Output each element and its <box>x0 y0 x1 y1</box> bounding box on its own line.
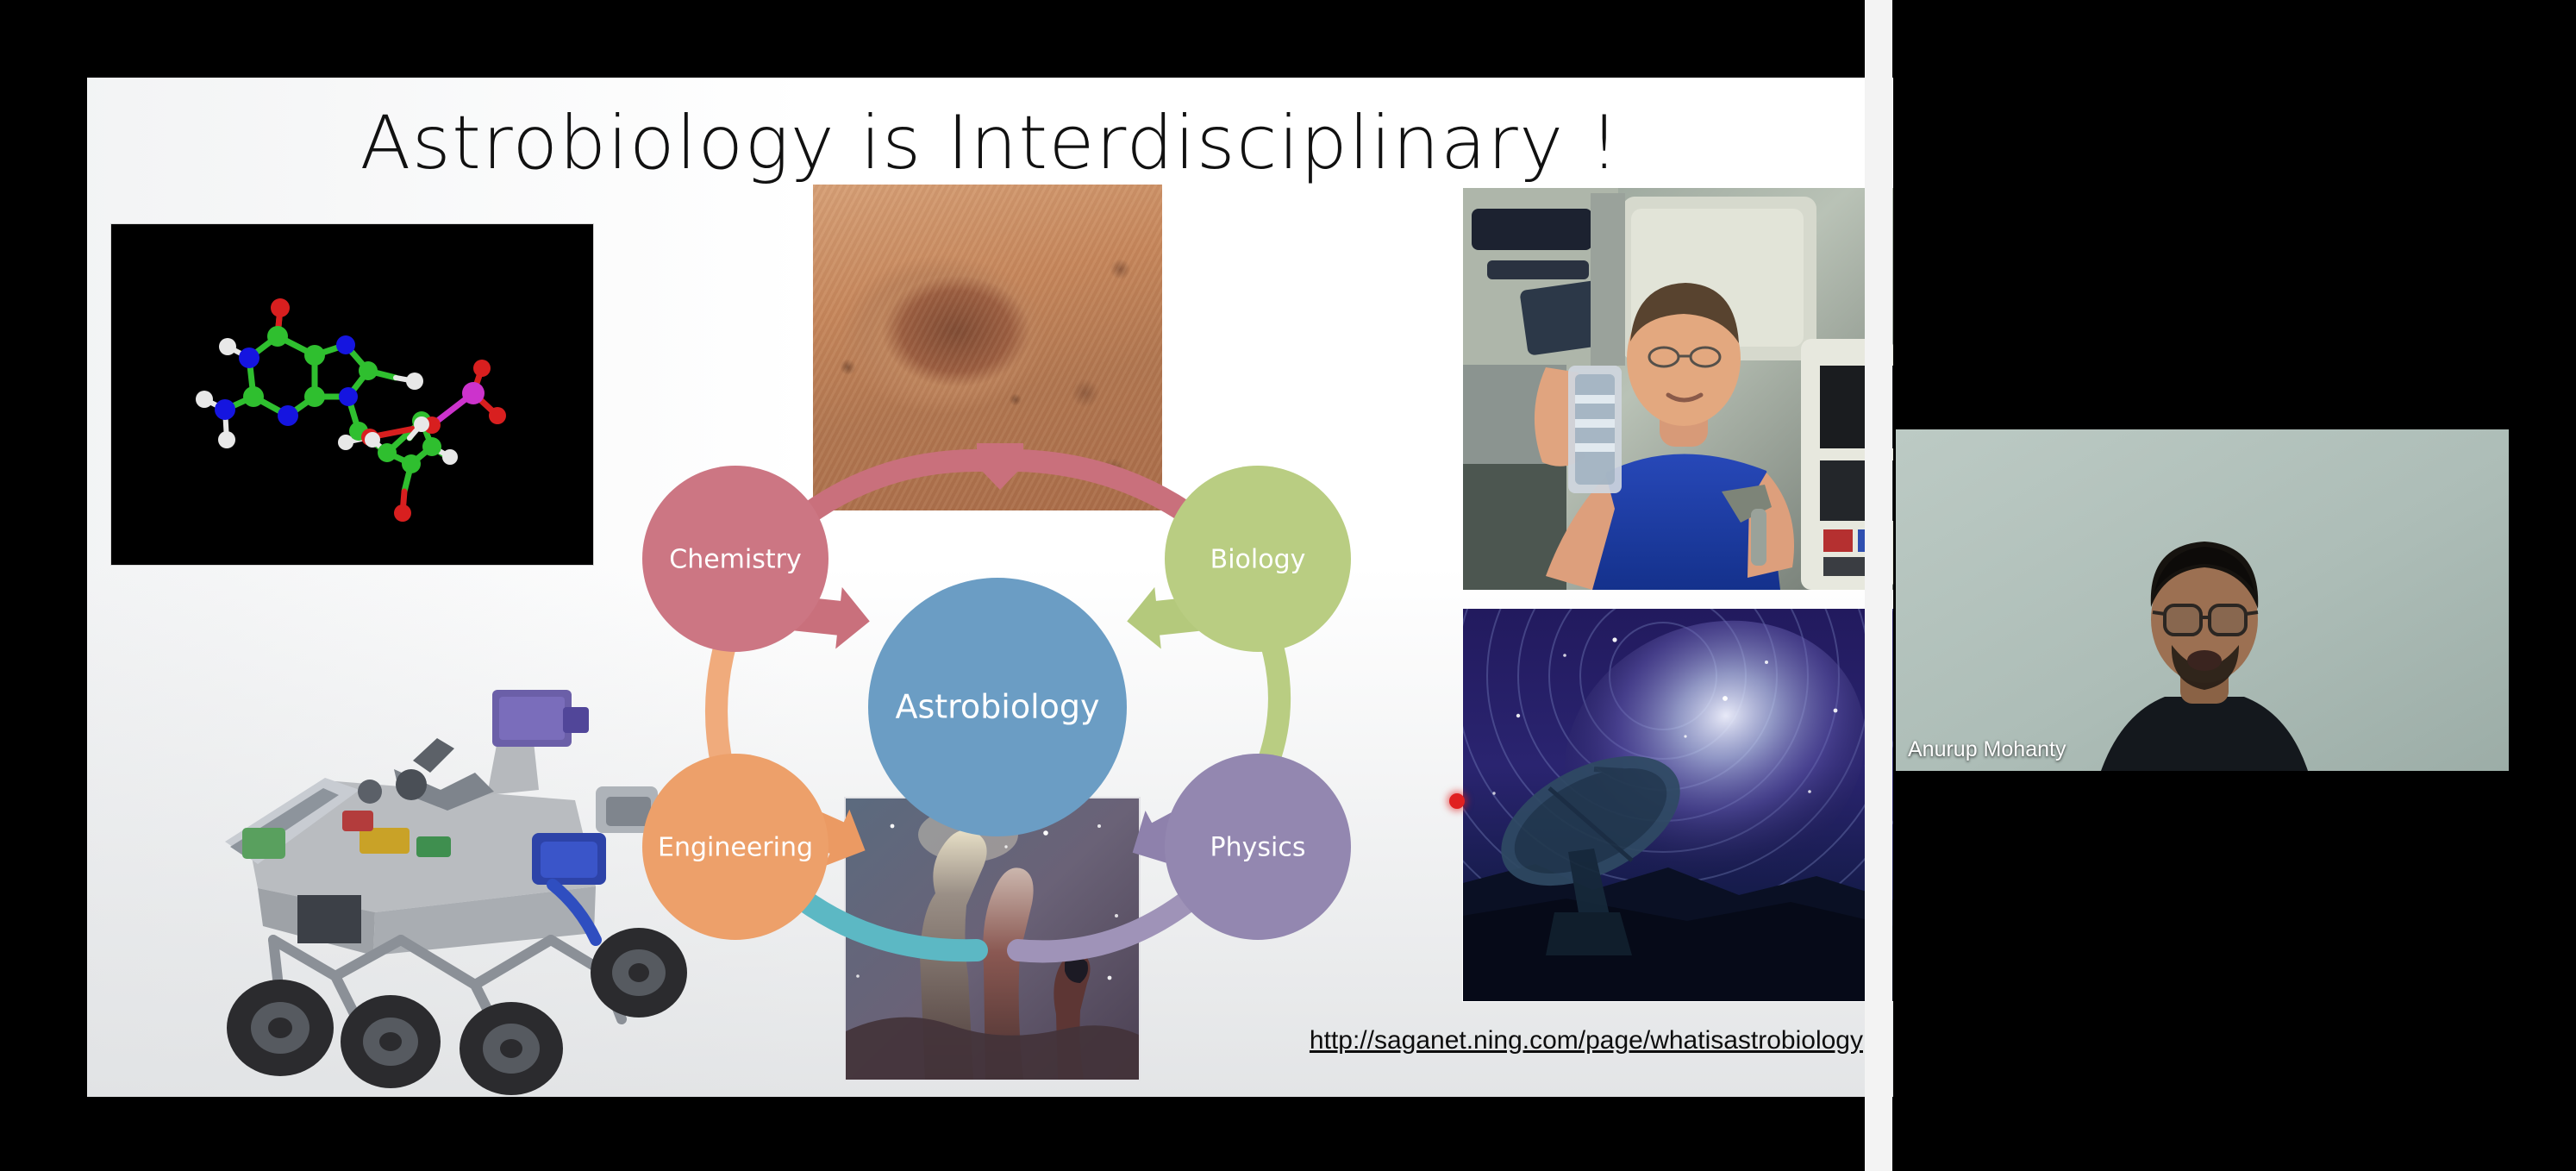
node-label-physics: Physics <box>1210 833 1306 863</box>
video-call-stage: Astrobiology is Interdisciplinary ! <box>0 0 2576 1171</box>
arrow-top-to-center <box>977 443 1023 490</box>
astronaut-iss-image <box>1463 188 1893 590</box>
ring-segment-bottom-left <box>792 892 977 950</box>
page-title: Astrobiology is Interdisciplinary ! <box>87 100 1893 186</box>
interdisciplinary-wheel-diagram: Chemistry Biology Physics Engineering As… <box>639 371 1354 1052</box>
laser-pointer-dot <box>1449 793 1465 809</box>
node-label-chemistry: Chemistry <box>669 545 801 575</box>
source-url-link[interactable]: http://saganet.ning.com/page/whatisastro… <box>1182 1026 1863 1055</box>
participant-video-feed <box>1896 429 2509 771</box>
participant-video-tile[interactable]: Anurup Mohanty <box>1896 429 2509 771</box>
share-border-sliver <box>1865 0 1892 1171</box>
shared-screen-region[interactable]: Astrobiology is Interdisciplinary ! <box>87 0 1893 1171</box>
radio-telescope-image <box>1463 609 1893 1001</box>
presentation-slide[interactable]: Astrobiology is Interdisciplinary ! <box>87 78 1893 1097</box>
molecule-model-image <box>111 224 593 565</box>
node-label-astrobiology: Astrobiology <box>895 688 1099 726</box>
node-label-biology: Biology <box>1210 545 1306 575</box>
node-label-engineering: Engineering <box>658 833 813 863</box>
participant-name-label: Anurup Mohanty <box>1908 737 2066 762</box>
